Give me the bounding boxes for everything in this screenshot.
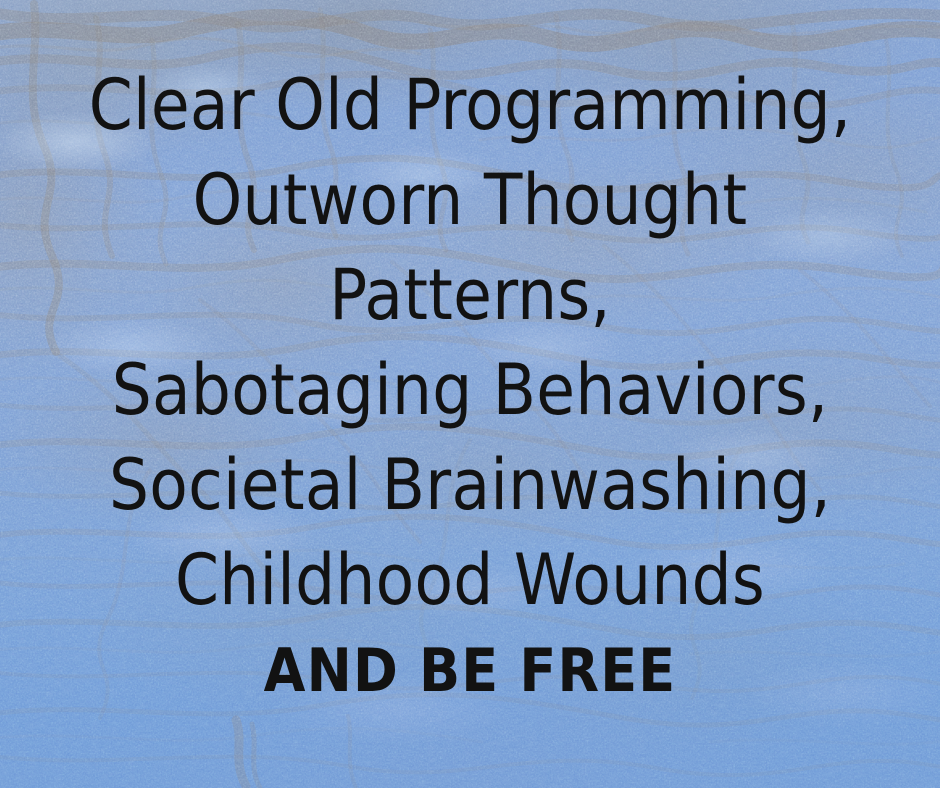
poster-line-1: Clear Old Programming, xyxy=(0,58,940,153)
poster-line-6: Childhood Wounds xyxy=(0,533,940,628)
poster-text-block: Clear Old Programming, Outworn Thought P… xyxy=(0,0,940,788)
poster-canvas: Clear Old Programming, Outworn Thought P… xyxy=(0,0,940,788)
poster-line-7-call-to-action: AND BE FREE xyxy=(0,634,940,708)
poster-line-2: Outworn Thought xyxy=(0,153,940,248)
poster-line-3: Patterns, xyxy=(0,248,940,343)
poster-line-4: Sabotaging Behaviors, xyxy=(0,343,940,438)
poster-line-5: Societal Brainwashing, xyxy=(0,438,940,533)
